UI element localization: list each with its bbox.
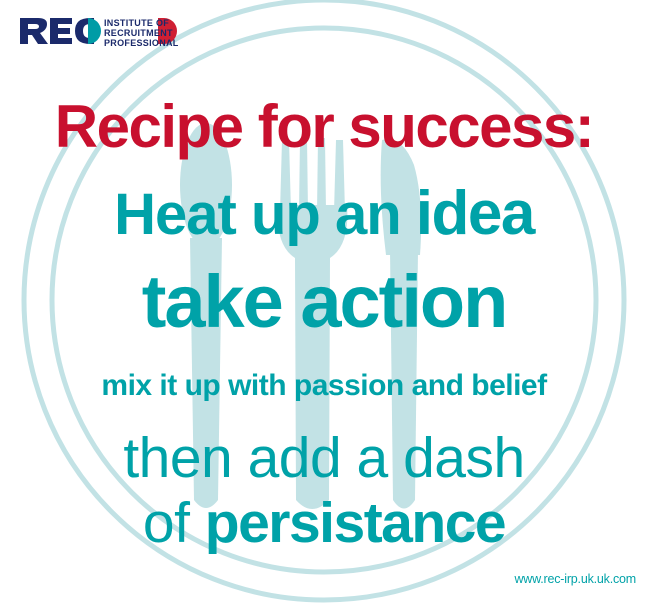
headline-recipe: Recipe for success: (0, 97, 648, 157)
logo-letter-r (20, 18, 48, 44)
logo-line-institute: INSTITUTE OF (104, 18, 169, 28)
headline-of-prefix: of (143, 491, 205, 555)
headline-of-persistance: of persistance (0, 495, 648, 552)
poster-canvas: INSTITUTE OF RECRUITMENT PROFESSIONALS R… (0, 0, 648, 603)
rec-logo: INSTITUTE OF RECRUITMENT PROFESSIONALS (18, 10, 178, 52)
logo-line-professionals: PROFESSIONALS (104, 38, 178, 48)
headline-mix-it-up: mix it up with passion and belief (0, 371, 648, 401)
headline-heat-emphasis: idea (416, 179, 534, 248)
headline-of-emphasis: persistance (205, 491, 505, 555)
headline-take-action: take action (0, 265, 648, 339)
headline-then-add-a-dash: then add a dash (0, 430, 648, 487)
footer-website-url[interactable]: www.rec-irp.uk.uk.com (514, 572, 636, 586)
logo-line-recruitment: RECRUITMENT (104, 28, 173, 38)
headline-heat-prefix: Heat up an (114, 182, 416, 247)
headline-heat-up-an-idea: Heat up an idea (0, 183, 648, 245)
headline-stack: Recipe for success: Heat up an idea take… (0, 0, 648, 603)
logo-letter-e (50, 18, 72, 44)
logo-teal-mark (88, 18, 101, 44)
